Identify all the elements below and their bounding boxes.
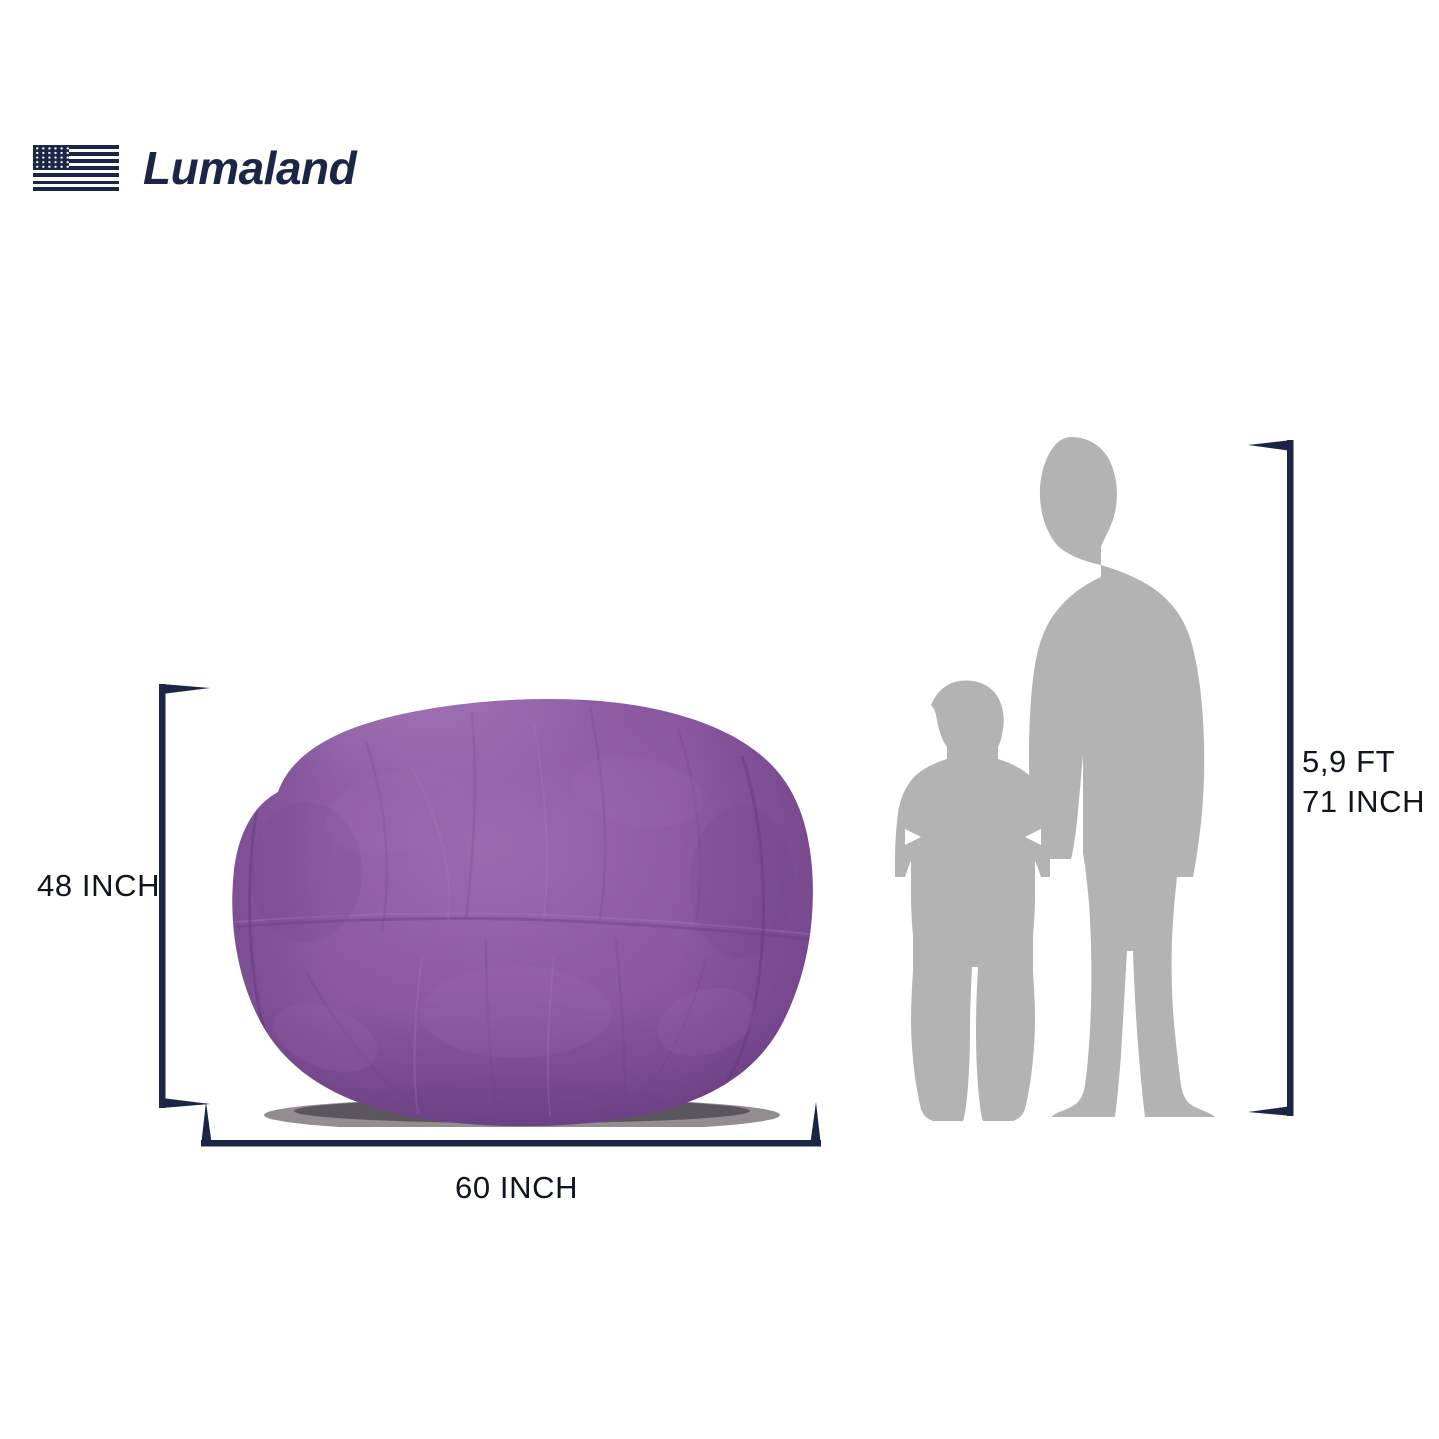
scale-figures-group <box>845 425 1245 1125</box>
person-height-dimension-line <box>1248 432 1308 1124</box>
brand-logo: Lumaland <box>33 145 356 191</box>
child-silhouette-shape <box>895 681 1050 1122</box>
height-dimension-line <box>150 676 220 1116</box>
size-chart-canvas: Lumaland <box>0 0 1439 1439</box>
height-dimension-label: 48 INCH <box>37 866 160 906</box>
person-height-inches: 71 INCH <box>1302 782 1425 822</box>
brand-name: Lumaland <box>143 145 356 191</box>
us-flag-icon <box>33 145 119 191</box>
person-height-label: 5,9 FT 71 INCH <box>1302 742 1425 821</box>
width-dimension-line <box>198 1090 824 1152</box>
adult-silhouette-shape <box>1029 437 1215 1117</box>
person-height-feet: 5,9 FT <box>1302 742 1425 782</box>
width-dimension-label: 60 INCH <box>455 1168 578 1208</box>
bean-bag-product-image <box>186 672 826 1127</box>
